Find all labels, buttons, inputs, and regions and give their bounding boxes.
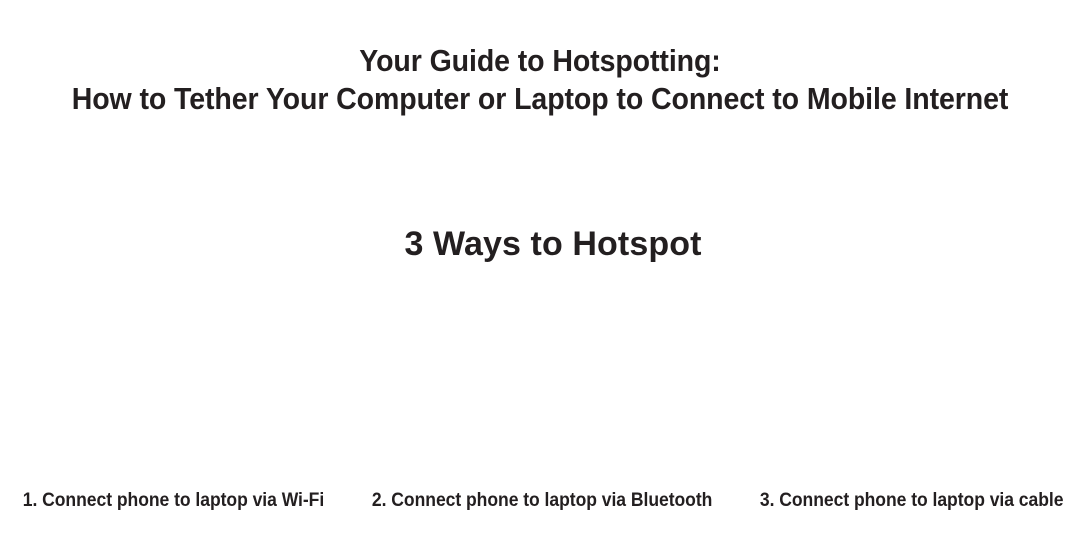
title-line-1: Your Guide to Hotspotting: — [43, 42, 1037, 80]
step-item-wifi: 1. Connect phone to laptop via Wi-Fi — [0, 487, 347, 513]
title-line-2: How to Tether Your Computer or Laptop to… — [43, 80, 1037, 118]
illustration-band — [0, 276, 1080, 476]
step-caption-bluetooth: 2. Connect phone to laptop via Bluetooth — [372, 487, 712, 513]
illustration-slot-wifi — [0, 276, 360, 476]
step-item-cable: 3. Connect phone to laptop via cable — [737, 487, 1080, 513]
section-heading-label: 3 Ways to Hotspot — [378, 223, 701, 265]
section-heading: 3 Ways to Hotspot — [0, 223, 1080, 265]
step-caption-cable: 3. Connect phone to laptop via cable — [760, 487, 1064, 513]
illustration-slot-bluetooth — [360, 276, 720, 476]
step-caption-wifi: 1. Connect phone to laptop via Wi-Fi — [23, 487, 324, 513]
infographic-page: Your Guide to Hotspotting: How to Tether… — [0, 0, 1080, 552]
page-title: Your Guide to Hotspotting: How to Tether… — [0, 42, 1080, 118]
step-item-bluetooth: 2. Connect phone to laptop via Bluetooth — [347, 487, 737, 513]
step-caption-row: 1. Connect phone to laptop via Wi-Fi 2. … — [0, 487, 1080, 513]
illustration-slot-cable — [720, 276, 1080, 476]
